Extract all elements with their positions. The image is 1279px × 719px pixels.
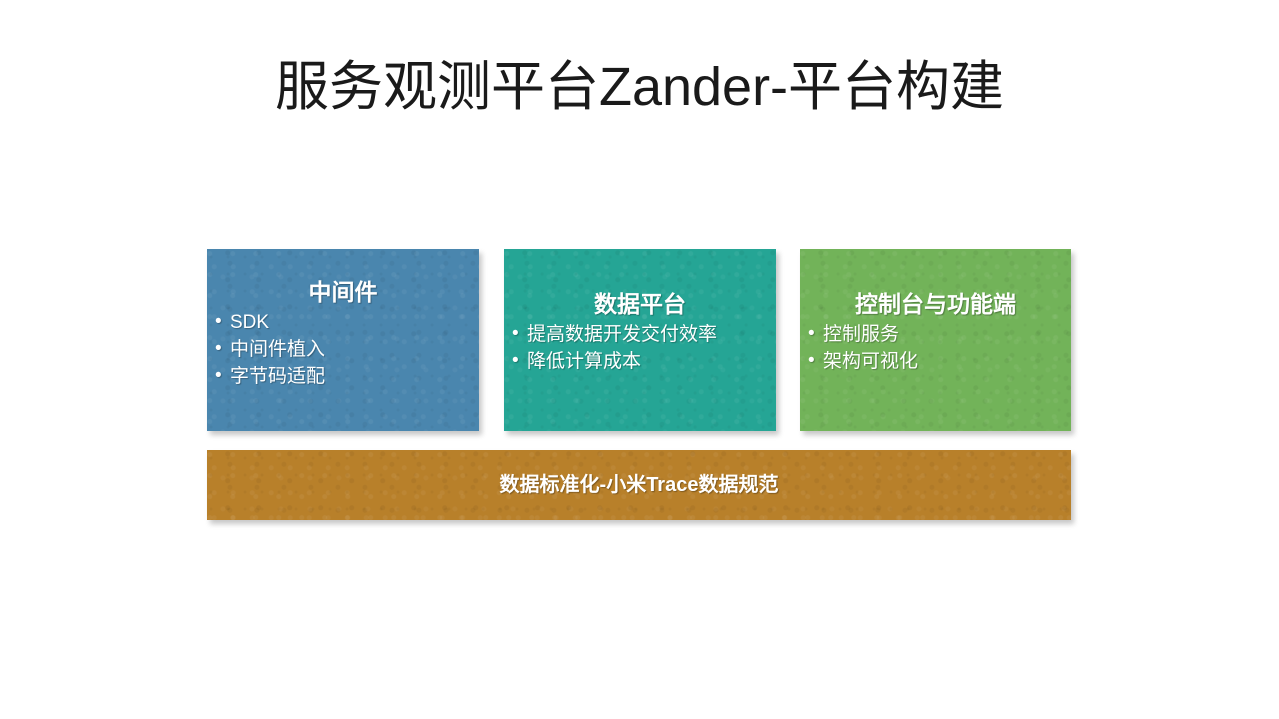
pillar-bullet-item: 提高数据开发交付效率 bbox=[510, 322, 776, 349]
foundation-band-label: 数据标准化-小米Trace数据规范 bbox=[207, 450, 1071, 520]
slide-canvas: 服务观测平台Zander-平台构建 中间件 SDK 中间件植入 字节码适配 数据… bbox=[0, 0, 1279, 719]
pillar-bullet-list: 提高数据开发交付效率 降低计算成本 bbox=[504, 322, 776, 376]
pillar-title: 控制台与功能端 bbox=[800, 292, 1071, 317]
pillar-title: 中间件 bbox=[207, 280, 479, 305]
pillar-bullet-list: 控制服务 架构可视化 bbox=[800, 322, 1071, 376]
foundation-band: 数据标准化-小米Trace数据规范 bbox=[207, 450, 1071, 520]
page-title: 服务观测平台Zander-平台构建 bbox=[0, 56, 1279, 120]
pillar-bullet-item: 架构可视化 bbox=[806, 349, 1071, 376]
pillar-bullet-item: SDK bbox=[213, 310, 479, 337]
pillar-bullet-item: 中间件植入 bbox=[213, 337, 479, 364]
pillar-title: 数据平台 bbox=[504, 292, 776, 317]
pillar-card-middleware: 中间件 SDK 中间件植入 字节码适配 bbox=[207, 249, 479, 431]
pillar-bullet-item: 字节码适配 bbox=[213, 364, 479, 391]
pillar-bullet-list: SDK 中间件植入 字节码适配 bbox=[207, 310, 479, 391]
pillar-bullet-item: 控制服务 bbox=[806, 322, 1071, 349]
pillar-card-data-platform: 数据平台 提高数据开发交付效率 降低计算成本 bbox=[504, 249, 776, 431]
pillar-bullet-item: 降低计算成本 bbox=[510, 349, 776, 376]
pillar-card-console: 控制台与功能端 控制服务 架构可视化 bbox=[800, 249, 1071, 431]
